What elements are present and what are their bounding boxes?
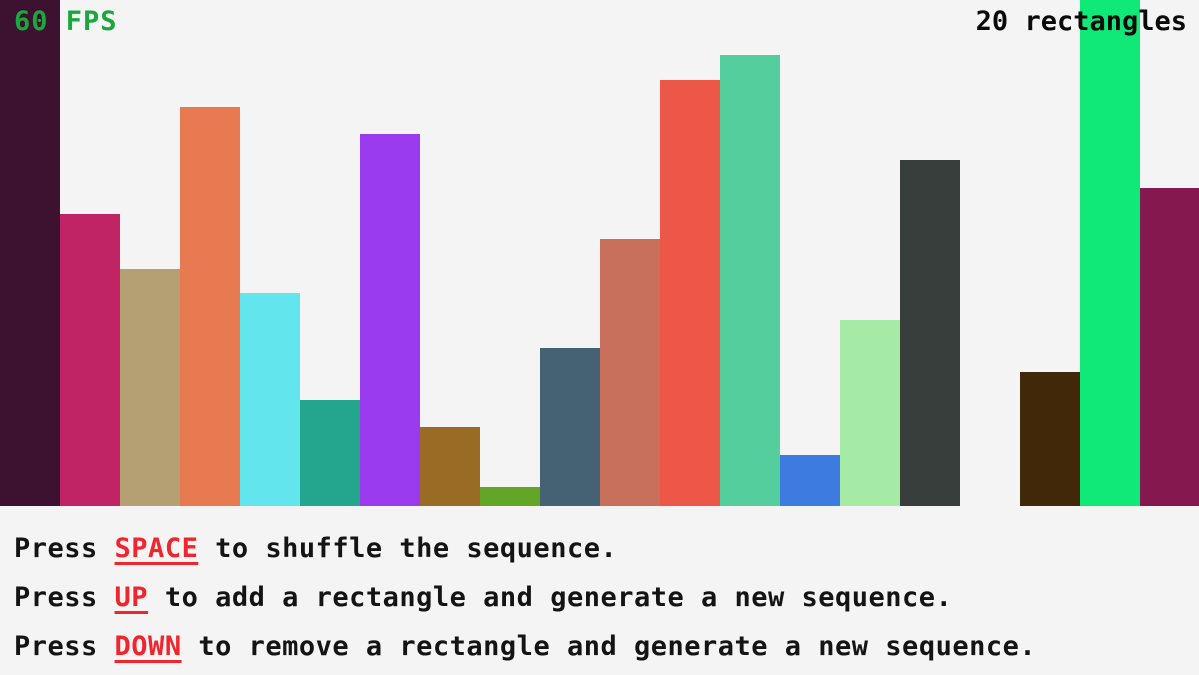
bar-4[interactable] [180,107,240,506]
rectangle-count-label: 20 rectangles [976,8,1187,35]
bar-18[interactable] [1020,372,1080,506]
bar-16[interactable] [900,160,960,506]
bar-10[interactable] [540,348,600,506]
bar-6[interactable] [300,400,360,506]
bar-chart-canvas[interactable] [0,0,1199,506]
rectangle-sequence-app: 60 FPS 20 rectangles Press SPACE to shuf… [0,0,1199,675]
bar-13[interactable] [720,55,780,506]
bar-5[interactable] [240,293,300,506]
instruction-prefix: Press [14,582,115,613]
fps-counter: 60 FPS [14,8,118,35]
instruction-suffix: to shuffle the sequence. [198,533,617,564]
key-down[interactable]: DOWN [115,631,182,662]
instruction-line-2: Press UP to add a rectangle and generate… [14,573,1199,622]
instruction-suffix: to remove a rectangle and generate a new… [182,631,1037,662]
instruction-line-3: Press DOWN to remove a rectangle and gen… [14,622,1199,671]
instructions-panel: Press SPACE to shuffle the sequence.Pres… [0,506,1199,675]
instruction-suffix: to add a rectangle and generate a new se… [148,582,952,613]
bar-14[interactable] [780,455,840,506]
bar-12[interactable] [660,80,720,506]
bar-3[interactable] [120,269,180,506]
bar-7[interactable] [360,134,420,506]
bar-15[interactable] [840,320,900,506]
key-space[interactable]: SPACE [115,533,199,564]
bar-1[interactable] [0,0,60,506]
bar-19[interactable] [1080,0,1140,506]
key-up[interactable]: UP [115,582,149,613]
instruction-prefix: Press [14,533,115,564]
instruction-line-1: Press SPACE to shuffle the sequence. [14,524,1199,573]
bar-8[interactable] [420,427,480,506]
instruction-prefix: Press [14,631,115,662]
bar-2[interactable] [60,214,120,506]
bar-20[interactable] [1140,188,1199,506]
bar-9[interactable] [480,487,540,506]
bar-11[interactable] [600,239,660,506]
